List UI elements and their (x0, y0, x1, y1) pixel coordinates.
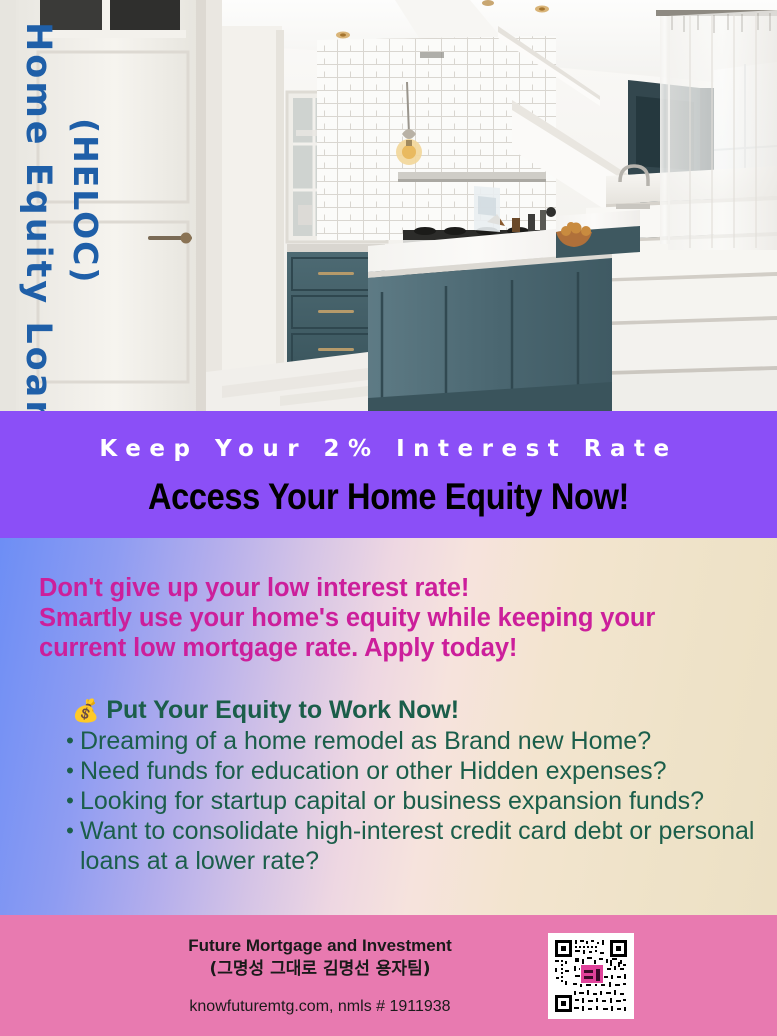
equity-heading: 💰 Put Your Equity to Work Now! (72, 696, 459, 725)
purple-banner: Keep Your 2% Interest Rate Access Your H… (0, 411, 777, 538)
list-item: • Need funds for education or other Hidd… (60, 756, 770, 786)
list-item-label: Dreaming of a home remodel as Brand new … (80, 726, 770, 756)
bullet-dot-icon: • (60, 786, 80, 816)
heloc-flyer: Home Equity Loan (HELOC) Keep Your 2% In… (0, 0, 777, 1036)
list-item: • Want to consolidate high-interest cred… (60, 816, 770, 876)
equity-heading-label: Put Your Equity to Work Now! (106, 696, 459, 724)
list-item: • Dreaming of a home remodel as Brand ne… (60, 726, 770, 756)
bullet-dot-icon: • (60, 726, 80, 756)
pink-line-3: current low mortgage rate. Apply today! (39, 633, 655, 663)
pink-line-1: Don't give up your low interest rate! (39, 573, 655, 603)
company-name: Future Mortgage and Investment (0, 935, 640, 957)
pink-message-block: Don't give up your low interest rate! Sm… (39, 573, 655, 663)
footer-text-block: Future Mortgage and Investment (그명성 그대로 … (0, 935, 640, 1016)
qr-center-logo (580, 964, 604, 984)
list-item: • Looking for startup capital or busines… (60, 786, 770, 816)
bullet-dot-icon: • (60, 816, 80, 846)
list-item-label: Want to consolidate high-interest credit… (80, 816, 770, 876)
hero-kitchen-photo: Home Equity Loan (HELOC) (0, 0, 777, 412)
list-item-label: Looking for startup capital or business … (80, 786, 770, 816)
banner-headline: Access Your Home Equity Now! (47, 476, 731, 518)
bullet-dot-icon: • (60, 756, 80, 786)
money-bag-icon: 💰 (72, 699, 99, 724)
benefit-bullet-list: • Dreaming of a home remodel as Brand ne… (60, 726, 770, 876)
contact-line: knowfuturemtg.com, nmls # 1911938 (0, 998, 640, 1016)
body-section: Don't give up your low interest rate! Sm… (0, 538, 777, 915)
pink-line-2: Smartly use your home's equity while kee… (39, 603, 655, 633)
banner-kicker: Keep Your 2% Interest Rate (0, 411, 777, 462)
list-item-label: Need funds for education or other Hidden… (80, 756, 770, 786)
qr-code[interactable] (548, 933, 634, 1019)
footer-section: Future Mortgage and Investment (그명성 그대로 … (0, 915, 777, 1036)
company-name-korean: (그명성 그대로 김명선 용자팀) (0, 957, 640, 981)
